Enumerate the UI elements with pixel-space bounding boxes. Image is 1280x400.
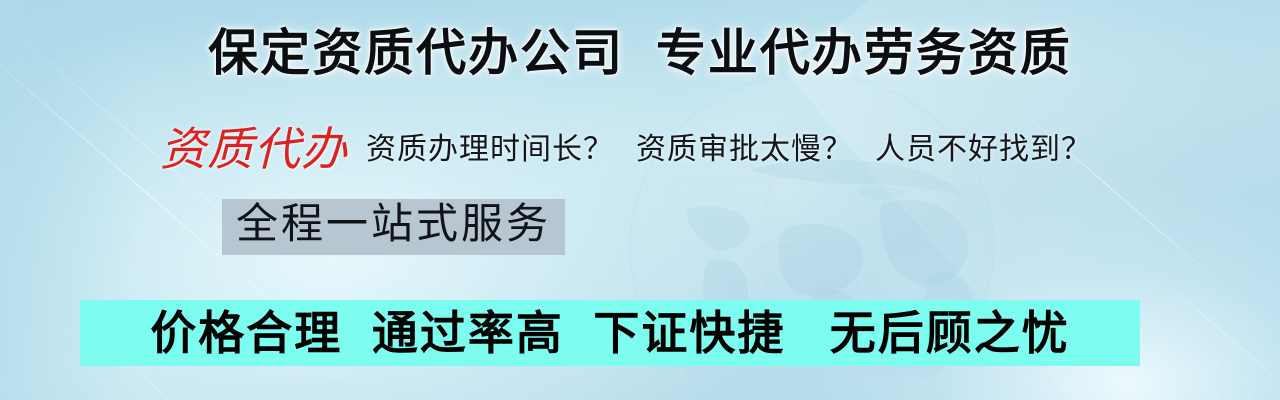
benefits-bar-text: 价格合理 通过率高 下证快捷 无后顾之忧 (150, 310, 1069, 356)
kicker-red-label: 资质代办 (160, 113, 348, 179)
benefits-bar: 价格合理 通过率高 下证快捷 无后顾之忧 (80, 300, 1140, 366)
subhead-wrapper: 全程一站式服务 (222, 199, 565, 255)
questions-row: 资质代办 资质办理时间长？ 资质审批太慢？ 人员不好找到？ (160, 115, 1092, 177)
question-item-2: 资质审批太慢？ (636, 124, 853, 168)
subhead-highlight: 全程一站式服务 (222, 199, 565, 255)
question-item-1: 资质办理时间长？ (366, 124, 614, 168)
promo-banner: 保定资质代办公司 专业代办劳务资质 资质代办 资质办理时间长？ 资质审批太慢？ … (0, 0, 1280, 400)
question-item-3: 人员不好找到？ (875, 124, 1092, 168)
page-title: 保定资质代办公司 专业代办劳务资质 (0, 13, 1280, 85)
